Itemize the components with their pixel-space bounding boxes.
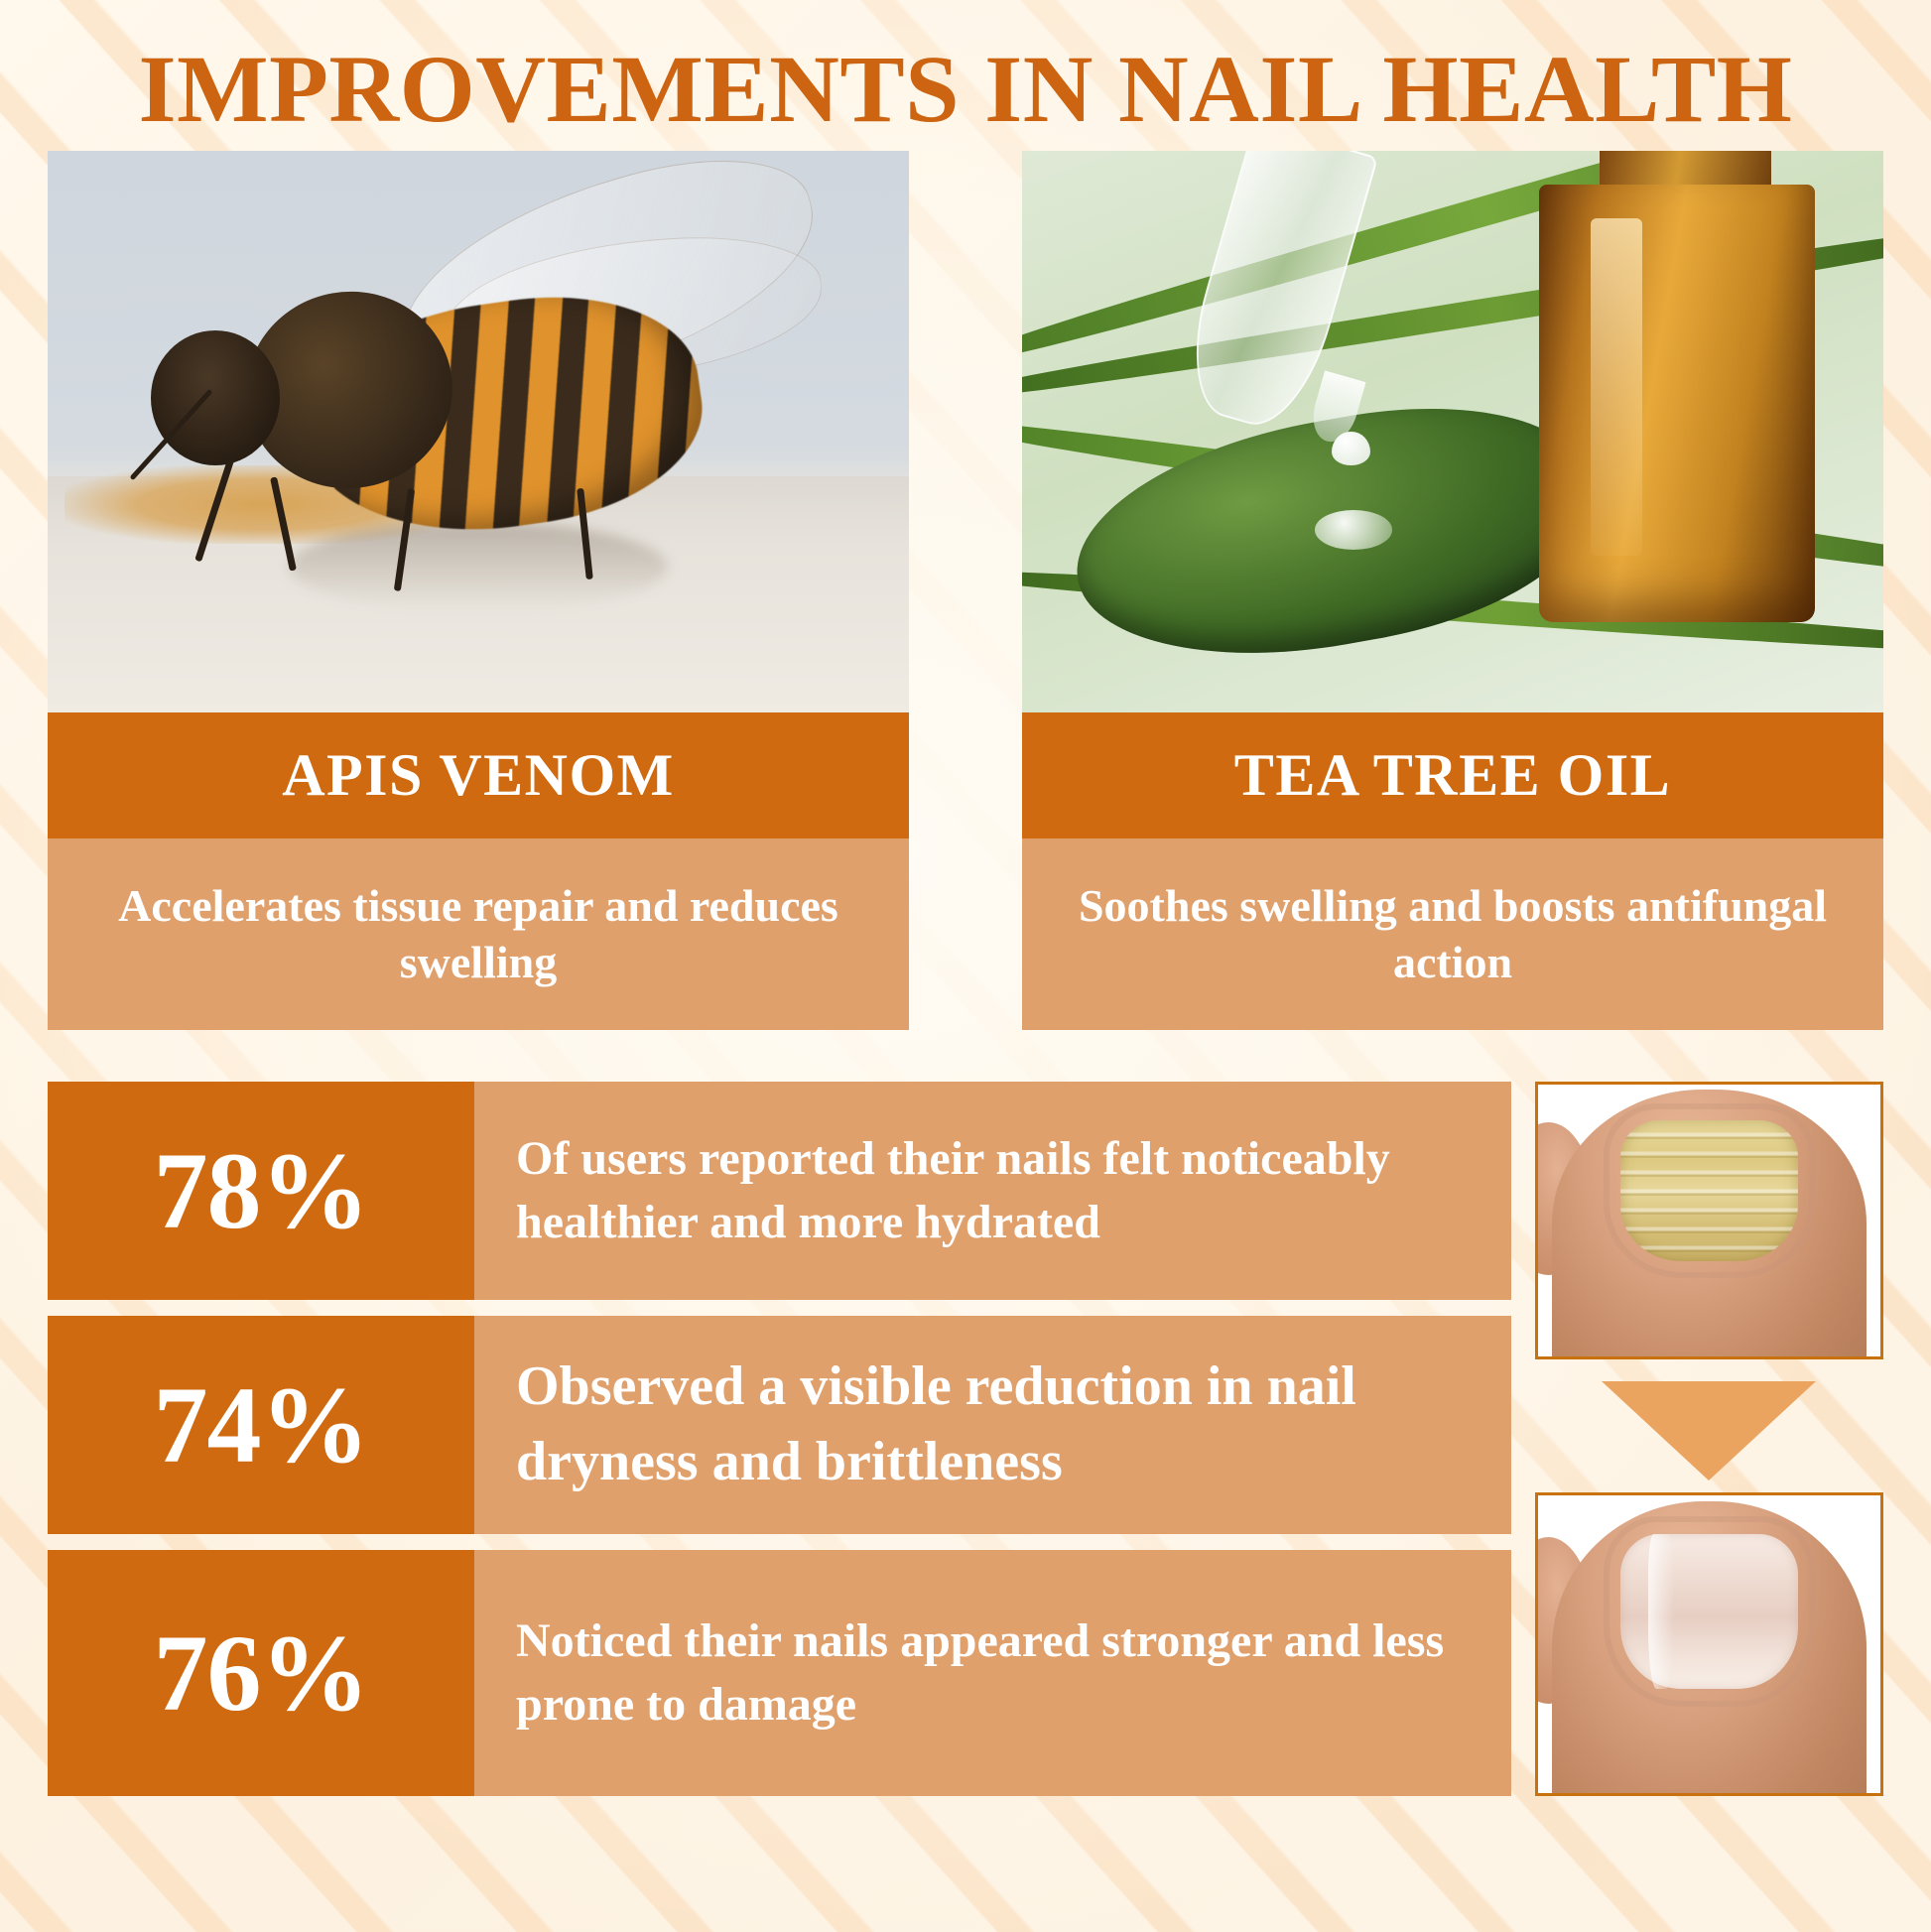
stat-row: 74% Observed a visible reduction in nail… bbox=[48, 1316, 1511, 1534]
stat-percent: 78% bbox=[48, 1082, 474, 1300]
bee-head bbox=[151, 330, 280, 465]
bee-reflection bbox=[289, 522, 668, 612]
ingredient-name-tea-tree-oil: TEA TREE OIL bbox=[1022, 712, 1883, 838]
after-toenail-image bbox=[1535, 1492, 1883, 1796]
bee-scene-backdrop bbox=[48, 151, 909, 712]
ingredient-description-tea-tree-oil: Soothes swelling and boosts antifungal a… bbox=[1022, 838, 1883, 1030]
yellow-thickened-nail-plate bbox=[1620, 1120, 1798, 1261]
stat-description: Of users reported their nails felt notic… bbox=[474, 1082, 1511, 1300]
stat-description: Noticed their nails appeared stronger an… bbox=[474, 1550, 1511, 1796]
stat-row: 76% Noticed their nails appeared stronge… bbox=[48, 1550, 1511, 1796]
tea-tree-oil-photo bbox=[1022, 151, 1883, 712]
healthy-toenail-illustration bbox=[1538, 1495, 1880, 1793]
oil-bottle-highlight bbox=[1591, 218, 1642, 556]
infographic-page: IMPROVEMENTS IN NAIL HEALTH APIS VENOM A… bbox=[0, 0, 1931, 1932]
ingredient-card-tea-tree-oil: TEA TREE OIL Soothes swelling and boosts… bbox=[1022, 151, 1883, 1030]
stat-description: Observed a visible reduction in nail dry… bbox=[474, 1316, 1511, 1534]
ingredient-card-apis-venom: APIS VENOM Accelerates tissue repair and… bbox=[48, 151, 909, 1030]
before-toenail-image bbox=[1535, 1082, 1883, 1359]
amber-oil-bottle-icon bbox=[1539, 185, 1815, 622]
clear-healthy-nail-plate bbox=[1620, 1534, 1798, 1689]
stat-percent: 74% bbox=[48, 1316, 474, 1534]
honeybee-photo bbox=[48, 151, 909, 712]
ingredient-description-apis-venom: Accelerates tissue repair and reduces sw… bbox=[48, 838, 909, 1030]
stat-percent: 76% bbox=[48, 1550, 474, 1796]
stat-row: 78% Of users reported their nails felt n… bbox=[48, 1082, 1511, 1300]
falling-oil-drop bbox=[1332, 432, 1369, 465]
page-title: IMPROVEMENTS IN NAIL HEALTH bbox=[0, 34, 1931, 144]
ingredient-name-apis-venom: APIS VENOM bbox=[48, 712, 909, 838]
triangle-down-icon bbox=[1602, 1381, 1816, 1481]
damaged-toenail-illustration bbox=[1538, 1085, 1880, 1356]
oil-droplet-on-leaf bbox=[1315, 510, 1392, 550]
oil-scene-backdrop bbox=[1022, 151, 1883, 712]
